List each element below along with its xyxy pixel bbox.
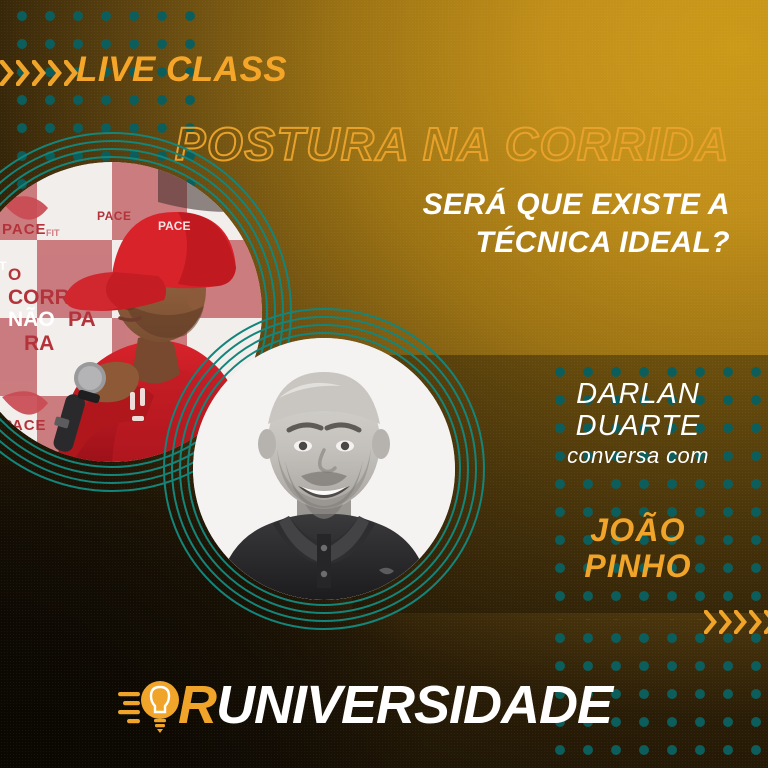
- guest-name: JOÃO PINHO: [522, 512, 754, 585]
- svg-text:NÃO: NÃO: [8, 308, 55, 331]
- host-name-line-1: DARLAN: [522, 378, 754, 410]
- svg-text:PACE: PACE: [97, 209, 131, 223]
- svg-text:PACE: PACE: [2, 221, 47, 238]
- chevron-right-icon: [16, 60, 31, 86]
- chevron-right-icon: [734, 610, 748, 634]
- svg-text:RA: RA: [24, 332, 54, 355]
- brand-accent-letter: R: [178, 675, 216, 735]
- photo-right-container: [193, 338, 455, 600]
- lightbulb-speed-icon: [118, 676, 180, 734]
- svg-text:O: O: [8, 265, 21, 284]
- chevron-right-icon: [48, 60, 63, 86]
- chevron-right-icon: [704, 610, 718, 634]
- live-class-promo-card: LIVE CLASS POSTURA NA CORRIDA SERÁ QUE E…: [0, 0, 768, 768]
- chevron-group-bottom-right: [704, 610, 768, 634]
- chevron-right-icon: [32, 60, 47, 86]
- host-name-line-2: DUARTE: [522, 410, 754, 442]
- guest-name-line-2: PINHO: [522, 548, 754, 584]
- guest-name-line-1: JOÃO: [522, 512, 754, 548]
- speakers-connector-text: conversa com: [522, 443, 754, 469]
- svg-text:PA: PA: [68, 308, 96, 331]
- svg-text:FIT: FIT: [46, 228, 60, 238]
- brand-wordmark-text: UNIVERSIDADE: [216, 675, 612, 735]
- chevron-right-icon: [719, 610, 733, 634]
- brand-logo: RUNIVERSIDADE: [118, 676, 612, 734]
- svg-text:PACEFIT: PACEFIT: [0, 259, 7, 273]
- chevron-group-top-left: [0, 60, 79, 86]
- chevron-right-icon: [764, 610, 768, 634]
- chevron-right-icon: [0, 60, 15, 86]
- photo-right-artwork: [193, 338, 455, 600]
- svg-text:PACE: PACE: [158, 219, 190, 233]
- brand-wordmark: RUNIVERSIDADE: [178, 678, 612, 732]
- host-name: DARLAN DUARTE: [522, 378, 754, 443]
- chevron-right-icon: [749, 610, 763, 634]
- eyebrow-live-class: LIVE CLASS: [76, 52, 287, 87]
- photo-right-guest-portrait: [193, 338, 455, 600]
